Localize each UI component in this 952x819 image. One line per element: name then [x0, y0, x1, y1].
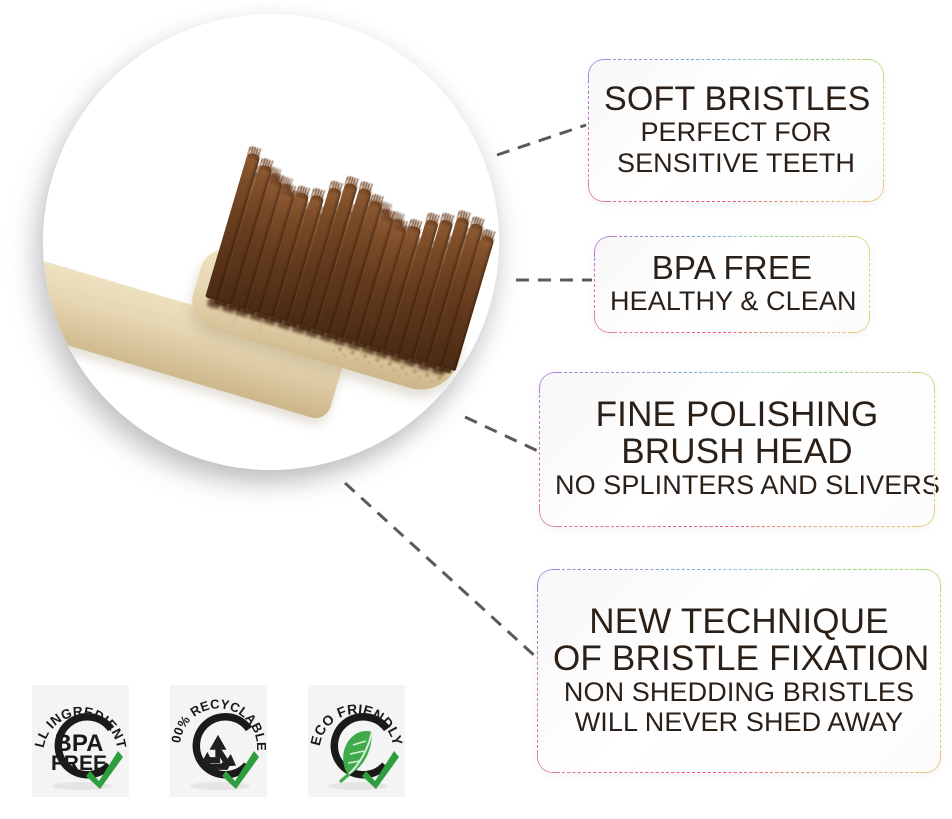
eco-friendly-badge: ECO FRIENDLY — [308, 685, 405, 797]
callout-subtitle-line: HEALTHY & CLEAN — [610, 286, 854, 316]
callout-subtitle-line: PERFECT FOR — [604, 117, 868, 147]
recycle-icon — [200, 735, 236, 770]
callout-subtitle-line: WILL NEVER SHED AWAY — [553, 707, 925, 737]
eco-badge-row: ALL INGREDIENTS BPA FREE 100% RECYCLABLE — [32, 685, 405, 797]
callout-new-technique-of-bristle-fixation: NEW TECHNIQUE OF BRISTLE FIXATION NON SH… — [537, 569, 941, 773]
connector-line-1 — [497, 125, 586, 155]
recyclable-badge: 100% RECYCLABLE — [170, 685, 267, 797]
callout-fine-polishing-brush-head: FINE POLISHING BRUSH HEAD NO SPLINTERS A… — [539, 372, 935, 527]
callout-soft-bristles: SOFT BRISTLES PERFECT FOR SENSITIVE TEET… — [588, 59, 884, 202]
recyclable-badge-graphic: 100% RECYCLABLE — [170, 685, 267, 797]
eco-friendly-badge-graphic: ECO FRIENDLY — [308, 685, 405, 797]
callout-title-line: NEW TECHNIQUE — [553, 603, 925, 640]
callout-title: BPA FREE — [610, 251, 854, 286]
badge-center-line: FREE — [51, 752, 107, 775]
bpa-free-badge-graphic: ALL INGREDIENTS BPA FREE — [32, 685, 129, 797]
connector-line-4 — [345, 483, 536, 657]
callout-bpa-free: BPA FREE HEALTHY & CLEAN — [594, 236, 870, 333]
callout-title-line: FINE POLISHING — [555, 396, 919, 433]
product-photo-image — [43, 14, 499, 470]
callout-subtitle-line: NON SHEDDING BRISTLES — [553, 677, 925, 707]
callout-subtitle-line: SENSITIVE TEETH — [604, 148, 868, 178]
product-photo-circle — [43, 14, 499, 470]
callout-title-line: BRUSH HEAD — [555, 433, 919, 470]
callout-subtitle-line: NO SPLINTERS AND SLIVERS — [555, 470, 919, 500]
callout-title-line: OF BRISTLE FIXATION — [553, 640, 925, 677]
callout-title: SOFT BRISTLES — [604, 81, 868, 117]
bpa-free-badge: ALL INGREDIENTS BPA FREE — [32, 685, 129, 797]
